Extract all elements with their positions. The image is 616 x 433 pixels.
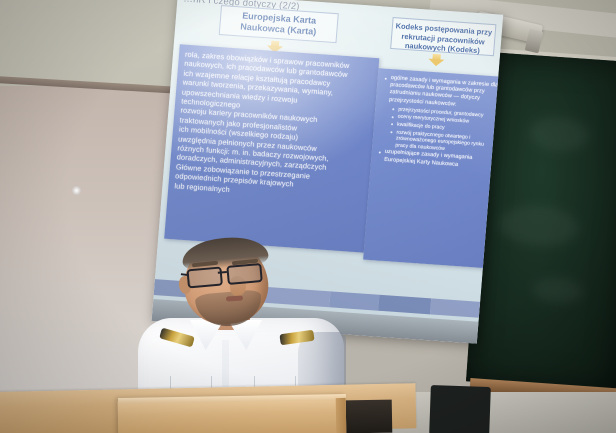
slide-left-content-box: rola, zakres obowiązków i sprawow pracow…: [164, 44, 379, 252]
footer-block: [378, 295, 431, 315]
podium-shadow-gap: [346, 400, 393, 433]
slide-right-content-box: ogólne zasady i wymagania w zakresie dla…: [363, 68, 503, 268]
wall-light-reflection: [72, 186, 81, 195]
footer-block: [430, 298, 480, 317]
slide-right-title-box: Kodeks postępowania przy rekrutacji prac…: [390, 17, 496, 56]
podium-side-edge: [336, 398, 347, 433]
lecture-photo-scene: …hR i czego dotyczy (2/2) Europejska Kar…: [0, 0, 616, 433]
dark-chair: [429, 385, 491, 433]
floor-right: [392, 392, 616, 433]
